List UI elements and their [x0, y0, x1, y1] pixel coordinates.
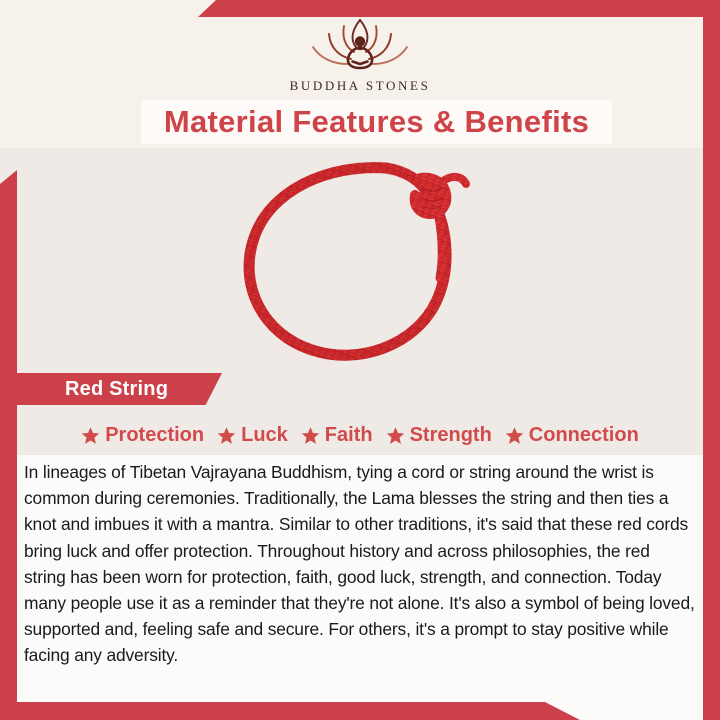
section-label-red-string: Red String [17, 373, 222, 405]
benefit-item: Faith [301, 424, 373, 447]
benefit-label: Luck [241, 424, 288, 447]
star-icon [81, 426, 100, 445]
benefit-item: Luck [217, 424, 288, 447]
benefit-item: Connection [505, 424, 639, 447]
star-icon [505, 426, 524, 445]
benefit-item: Protection [81, 424, 204, 447]
infographic-page: BUDDHA STONES Material Features & Benefi… [0, 0, 720, 720]
bracelet-knot [415, 177, 466, 278]
benefit-label: Connection [529, 424, 639, 447]
benefit-label: Faith [325, 424, 373, 447]
page-title: Material Features & Benefits [164, 104, 589, 140]
star-icon [217, 426, 236, 445]
benefit-label: Protection [105, 424, 204, 447]
section-label-text: Red String [17, 378, 168, 401]
product-image [208, 152, 512, 368]
decorative-bar-bottom [0, 702, 580, 720]
benefit-label: Strength [410, 424, 492, 447]
benefits-list: Protection Luck Faith Strength Connectio… [0, 419, 720, 452]
brand-name: BUDDHA STONES [290, 78, 431, 94]
description-text: In lineages of Tibetan Vajrayana Buddhis… [24, 459, 696, 669]
lotus-meditation-icon [300, 14, 420, 76]
title-banner: Material Features & Benefits [141, 100, 612, 144]
star-icon [386, 426, 405, 445]
benefit-item: Strength [386, 424, 492, 447]
star-icon [301, 426, 320, 445]
red-string-bracelet-illustration [208, 152, 512, 368]
brand-logo: BUDDHA STONES [0, 14, 720, 94]
decorative-bar-right [703, 17, 720, 720]
